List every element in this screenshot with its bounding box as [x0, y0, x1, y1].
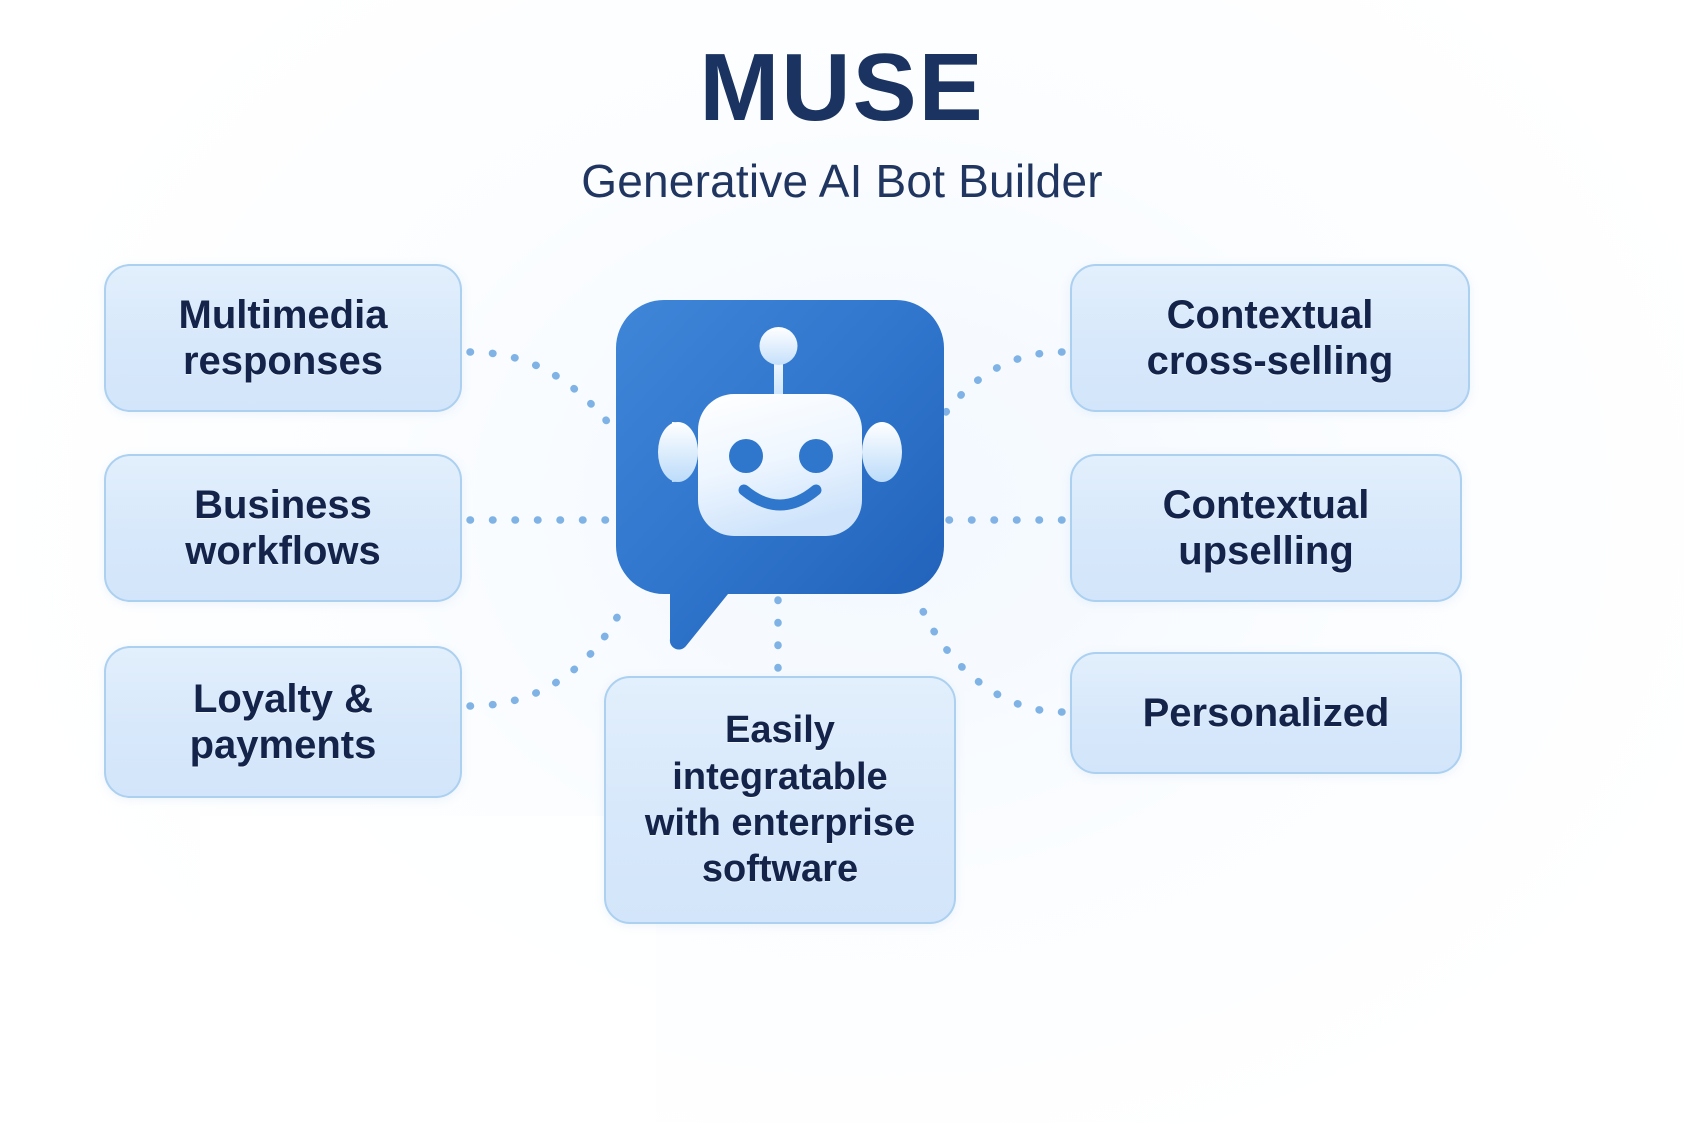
- infographic-canvas: MUSE Generative AI Bot Builder .dl { fil…: [0, 0, 1684, 1123]
- robot-ear-right: [862, 422, 902, 482]
- feature-card-label: Easily integratable with enterprise soft…: [631, 707, 929, 892]
- feature-card-label: Personalized: [1129, 690, 1404, 736]
- header: MUSE Generative AI Bot Builder: [0, 36, 1684, 208]
- connector-crosssell: [940, 352, 1062, 420]
- feature-card-label: Business workflows: [171, 482, 395, 575]
- chat-bot-icon-svg: [610, 294, 950, 654]
- background-panel-artifact: [200, 816, 656, 1123]
- robot-antenna-bulb: [760, 327, 798, 365]
- connector-loyalty: [470, 612, 620, 706]
- robot-face-plate: [698, 394, 862, 536]
- connector-multimedia: [470, 352, 614, 430]
- page-subtitle: Generative AI Bot Builder: [0, 154, 1684, 208]
- feature-card-multimedia[interactable]: Multimedia responses: [104, 264, 462, 412]
- feature-card-contextual-upselling[interactable]: Contextual upselling: [1070, 454, 1462, 602]
- feature-card-label: Contextual upselling: [1149, 482, 1384, 575]
- feature-card-workflows[interactable]: Business workflows: [104, 454, 462, 602]
- feature-card-enterprise-integration[interactable]: Easily integratable with enterprise soft…: [604, 676, 956, 924]
- feature-card-label: Contextual cross-selling: [1133, 292, 1408, 385]
- robot-eye-left: [729, 439, 763, 473]
- feature-card-contextual-cross-selling[interactable]: Contextual cross-selling: [1070, 264, 1470, 412]
- feature-card-loyalty[interactable]: Loyalty & payments: [104, 646, 462, 798]
- feature-card-label: Loyalty & payments: [176, 676, 391, 769]
- feature-card-personalized[interactable]: Personalized: [1070, 652, 1462, 774]
- feature-card-label: Multimedia responses: [165, 292, 402, 385]
- robot-eye-right: [799, 439, 833, 473]
- chat-bot-icon: [610, 294, 950, 654]
- page-title: MUSE: [0, 36, 1684, 140]
